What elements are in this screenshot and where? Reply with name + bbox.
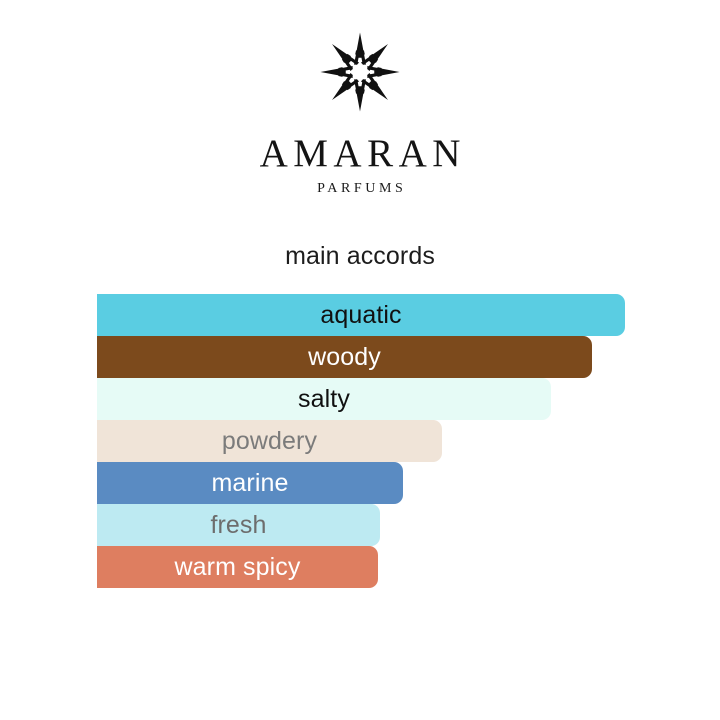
main-accords-page: AMARAN PARFUMS main accords aquaticwoody…: [0, 0, 720, 720]
accord-bar[interactable]: salty: [97, 378, 551, 420]
accord-bar-row: fresh: [97, 504, 720, 546]
accord-bar[interactable]: aquatic: [97, 294, 625, 336]
accord-bar-label: aquatic: [320, 303, 401, 328]
accord-bar-list: aquaticwoodysaltypowderymarinefreshwarm …: [0, 294, 720, 588]
accord-bar-row: powdery: [97, 420, 720, 462]
accord-bar-row: woody: [97, 336, 720, 378]
brand-header: AMARAN PARFUMS: [0, 26, 720, 196]
accord-bar-row: salty: [97, 378, 720, 420]
accord-bar-label: salty: [298, 387, 350, 412]
accord-bar-label: marine: [211, 471, 288, 496]
accord-bar-label: powdery: [222, 429, 317, 454]
accord-bar[interactable]: marine: [97, 462, 403, 504]
accord-bar-row: aquatic: [97, 294, 720, 336]
chart-title: main accords: [0, 244, 720, 269]
accord-bar-row: warm spicy: [97, 546, 720, 588]
accord-bar[interactable]: warm spicy: [97, 546, 378, 588]
brand-subtitle: PARFUMS: [314, 182, 407, 196]
accord-bar[interactable]: woody: [97, 336, 592, 378]
accord-bar-row: marine: [97, 462, 720, 504]
accord-bar-label: fresh: [210, 513, 266, 538]
accord-bar-label: warm spicy: [174, 555, 300, 580]
brand-name: AMARAN: [254, 134, 466, 173]
main-accords-chart: main accords aquaticwoodysaltypowderymar…: [0, 244, 720, 588]
accord-bar-label: woody: [308, 345, 381, 370]
accord-bar[interactable]: powdery: [97, 420, 442, 462]
amaran-radial-star-logo-icon: [307, 26, 413, 118]
accord-bar[interactable]: fresh: [97, 504, 380, 546]
